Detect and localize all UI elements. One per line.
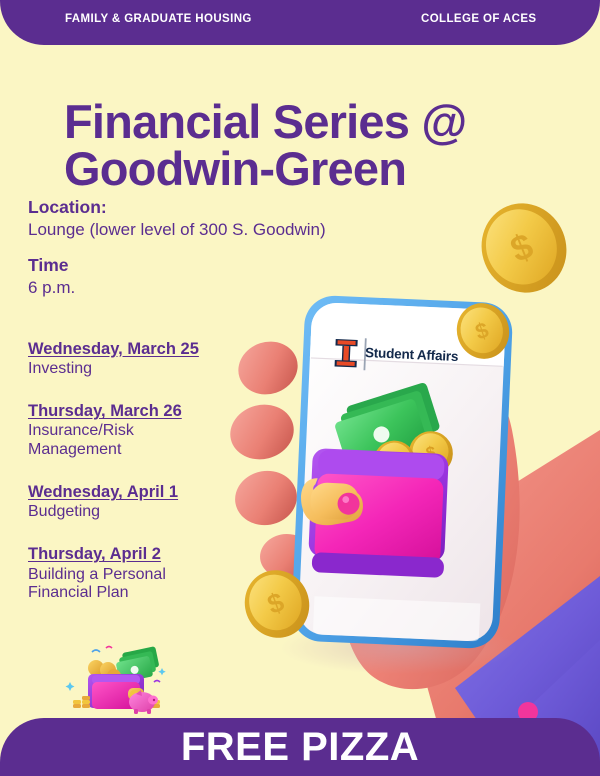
phone-screen-brand: Student Affairs <box>365 345 459 364</box>
svg-text:$: $ <box>390 452 400 469</box>
event-info-block: Location: Lounge (lower level of 300 S. … <box>28 196 398 300</box>
session-list: Wednesday, March 25 Investing Thursday, … <box>28 338 268 624</box>
svg-text:$: $ <box>472 317 491 345</box>
wallet-coins-illustration: $ $ $ <box>370 425 458 503</box>
info-spacer <box>28 242 398 254</box>
footer-bar: FREE PIZZA <box>0 718 600 776</box>
svg-text:$: $ <box>505 225 539 271</box>
list-item: Thursday, March 26 Insurance/Risk Manage… <box>28 400 268 460</box>
illinois-block-i-logo <box>334 337 365 370</box>
cash-bills-illustration <box>328 378 447 475</box>
floating-coin-large: $ <box>468 191 580 306</box>
session-topic: Investing <box>28 360 268 379</box>
hand-illustration <box>224 330 519 689</box>
svg-text:$: $ <box>412 469 424 487</box>
location-label: Location: <box>28 196 398 219</box>
session-topic: Building a Personal Financial Plan <box>28 566 268 604</box>
session-date: Wednesday, April 1 <box>28 481 268 503</box>
time-value: 6 p.m. <box>28 277 398 300</box>
poster-title-line-1: Financial Series @ <box>64 99 584 145</box>
list-item: Wednesday, March 25 Investing <box>28 338 268 379</box>
poster-title-line-2: Goodwin-Green <box>64 146 584 192</box>
time-label: Time <box>28 254 398 277</box>
header-bar: FAMILY & GRADUATE HOUSING COLLEGE OF ACE… <box>0 0 600 45</box>
session-topic: Budgeting <box>28 503 268 522</box>
free-pizza-label: FREE PIZZA <box>0 718 600 776</box>
list-item: Wednesday, April 1 Budgeting <box>28 481 268 522</box>
poster-canvas: $ $ $ <box>0 0 600 776</box>
session-date: Wednesday, March 25 <box>28 338 268 360</box>
session-date: Thursday, April 2 <box>28 543 268 565</box>
location-value: Lounge (lower level of 300 S. Goodwin) <box>28 219 398 242</box>
header-left-label: FAMILY & GRADUATE HOUSING <box>65 13 252 25</box>
poster-title: Financial Series @ Goodwin-Green <box>64 99 584 191</box>
list-item: Thursday, April 2 Building a Personal Fi… <box>28 543 268 603</box>
session-date: Thursday, March 26 <box>28 400 268 422</box>
svg-text:$: $ <box>425 443 438 463</box>
session-topic: Insurance/Risk Management <box>28 422 268 460</box>
mini-wallet-scene <box>62 638 174 718</box>
wallet-illustration <box>298 448 449 578</box>
floating-coin-medium: $ <box>450 296 517 365</box>
header-right-label: COLLEGE OF ACES <box>421 13 536 25</box>
